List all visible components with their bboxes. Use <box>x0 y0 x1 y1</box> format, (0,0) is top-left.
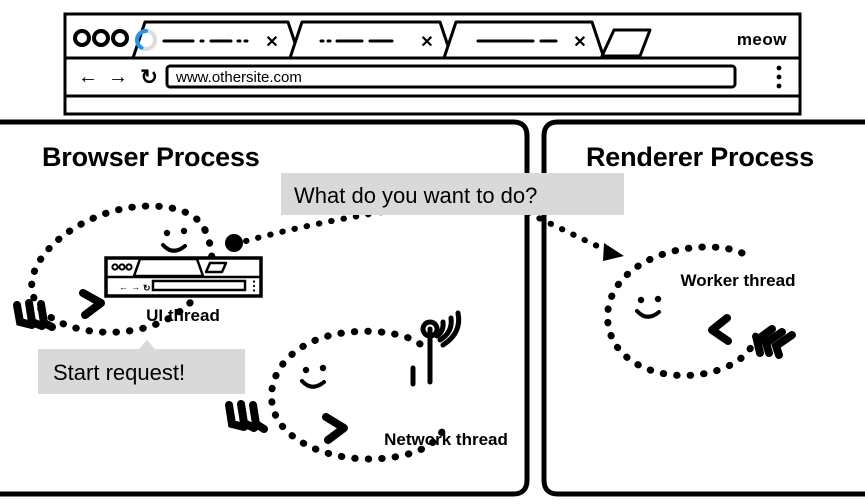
svg-text:→: → <box>131 282 140 292</box>
address-bar-value: www.othersite.com <box>175 69 302 86</box>
browser-process-title: Browser Process <box>42 142 260 172</box>
ui-thread-eye-right <box>181 228 187 234</box>
ui-thread-label: UI thread <box>146 306 220 325</box>
browser-menu-button[interactable] <box>777 66 782 89</box>
back-arrow-icon[interactable]: ← <box>78 66 98 88</box>
network-thread-label: Network thread <box>384 430 508 449</box>
message-callout-text: What do you want to do? <box>294 183 537 208</box>
nav-back-button[interactable]: ← <box>78 66 98 88</box>
renderer-process-title: Renderer Process <box>586 142 814 172</box>
message-origin-dot <box>225 234 243 252</box>
worker-thread-eye-right <box>655 296 661 302</box>
browser-brand-label: meow <box>737 30 787 49</box>
tab-1-close-icon[interactable]: ✕ <box>265 34 278 51</box>
browser-window-icon: ← → ↻ <box>106 258 261 296</box>
nav-reload-button[interactable]: ↻ <box>140 66 158 89</box>
tab-2[interactable]: ✕ <box>290 22 452 58</box>
tab-3-close-icon[interactable]: ✕ <box>573 34 586 51</box>
tab-1[interactable]: ✕ <box>133 22 300 58</box>
tab-2-close-icon[interactable]: ✕ <box>420 34 433 51</box>
worker-thread-label: Worker thread <box>681 271 796 290</box>
network-thread-eye-left <box>303 367 309 373</box>
browser-window-mock: ✕ ✕ ✕ meow <box>65 14 800 114</box>
diagram-canvas: ✕ ✕ ✕ meow <box>0 0 865 504</box>
svg-text:←: ← <box>119 282 128 292</box>
ui-thread-eye-left <box>164 230 170 236</box>
reload-icon[interactable]: ↻ <box>140 66 158 89</box>
svg-text:↻: ↻ <box>143 283 151 293</box>
worker-thread-eye-left <box>638 297 644 303</box>
forward-arrow-icon[interactable]: → <box>108 66 128 88</box>
network-thread-eye-right <box>320 365 326 371</box>
nav-forward-button[interactable]: → <box>108 66 128 88</box>
tab-3[interactable]: ✕ <box>444 22 604 58</box>
start-request-text: Start request! <box>53 360 185 385</box>
